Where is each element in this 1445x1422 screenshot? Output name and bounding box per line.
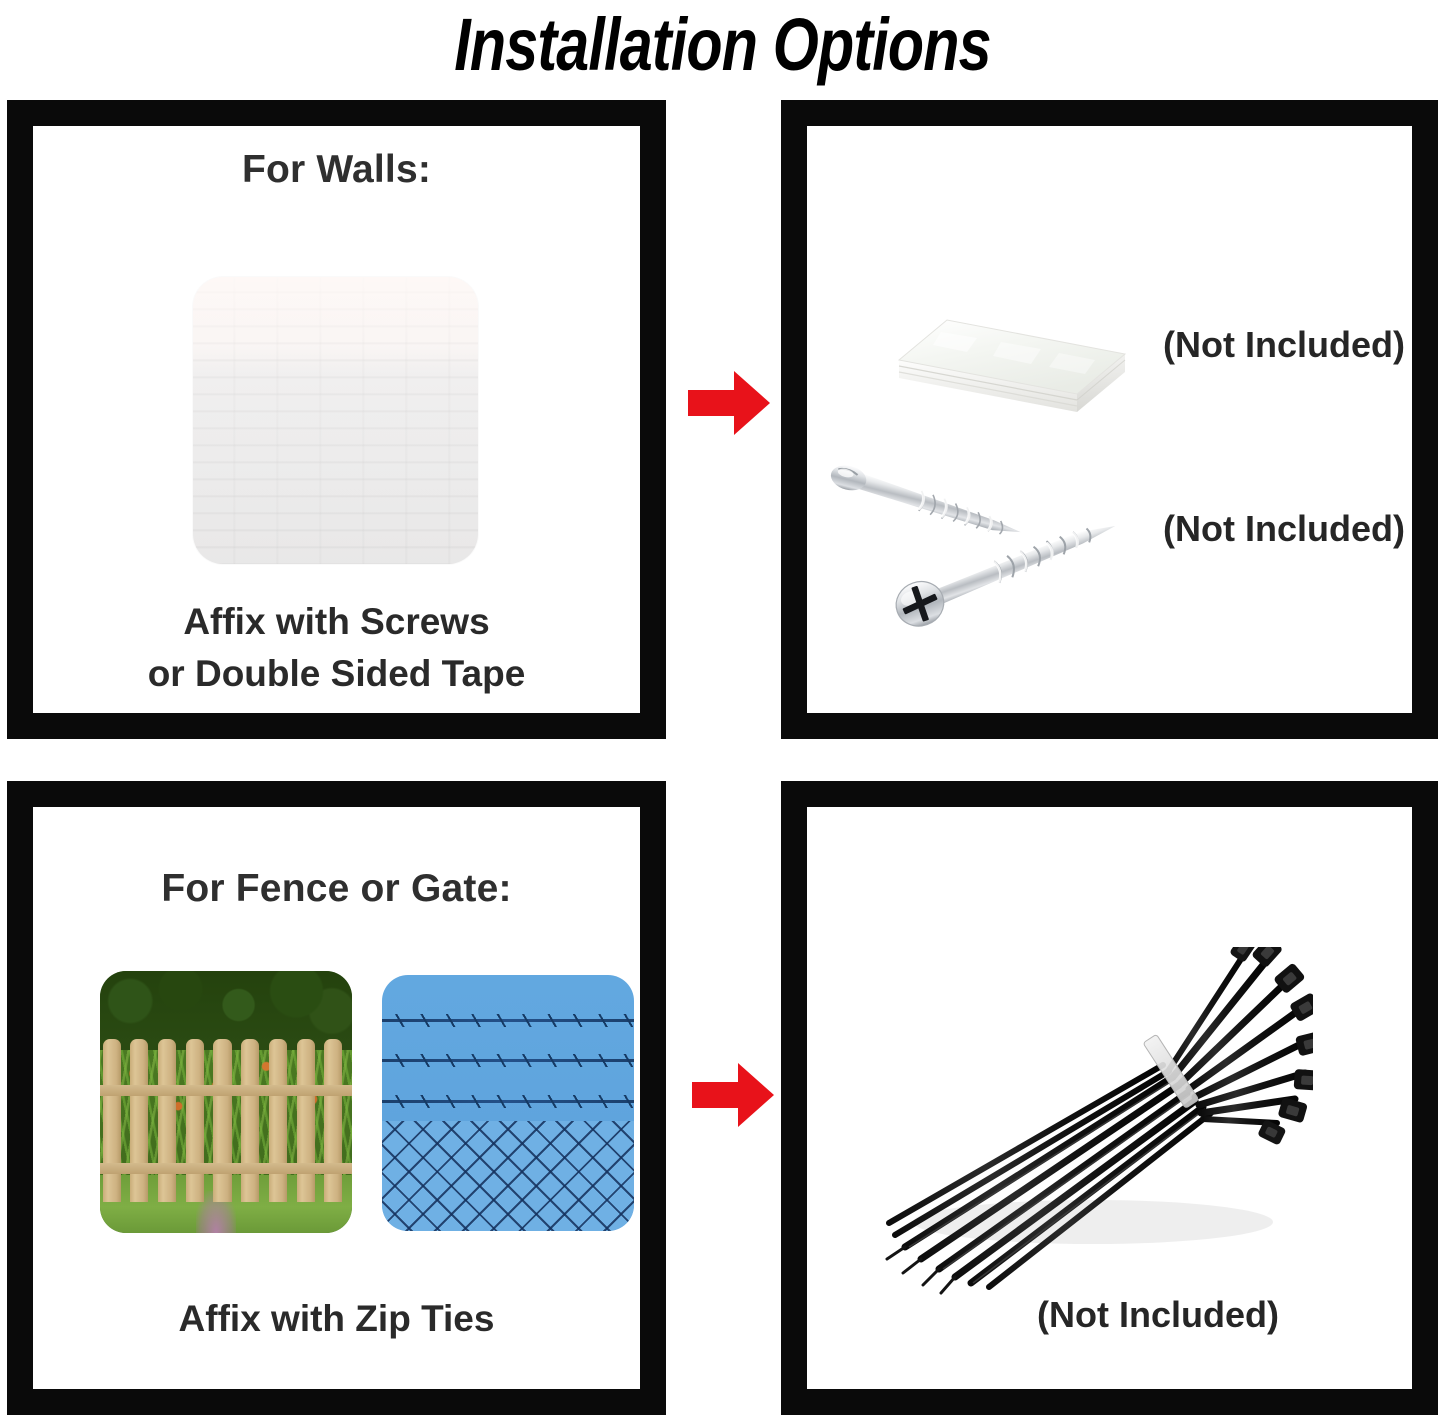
brick-wash-overlay [193, 277, 478, 564]
pickets [100, 1039, 352, 1201]
panel-wall-hardware: (Not Included) [781, 100, 1438, 739]
red-right-arrow-icon [690, 1060, 776, 1130]
chain-link-mesh [382, 1121, 634, 1231]
panel-for-walls: For Walls: Affix with Screws or Double S… [7, 100, 666, 739]
double-sided-tape-stack-image [881, 248, 1141, 428]
panel-fence-hardware: (Not Included) [781, 781, 1438, 1415]
black-zip-ties-bundle-image [843, 947, 1313, 1297]
screws-not-included-label: (Not Included) [1163, 508, 1405, 550]
page-title: Installation Options [145, 2, 1301, 87]
barbed-wire-3 [382, 1100, 634, 1103]
zipties-not-included-label: (Not Included) [1037, 1294, 1279, 1336]
red-right-arrow-icon [686, 368, 772, 438]
for-walls-caption-line1: Affix with Screws [33, 596, 640, 648]
panel-for-fence-or-gate: For Fence or Gate: [7, 781, 666, 1415]
for-walls-heading: For Walls: [33, 148, 640, 192]
for-fence-caption: Affix with Zip Ties [33, 1293, 640, 1345]
for-fence-heading: For Fence or Gate: [33, 867, 640, 911]
barbed-wire-1 [382, 1019, 634, 1022]
tape-not-included-label: (Not Included) [1163, 324, 1405, 366]
installation-options-infographic: Installation Options For Walls: Affix wi… [0, 0, 1445, 1422]
chain-link-fence-photo [382, 975, 634, 1231]
wood-screws-image [827, 446, 1207, 646]
for-walls-caption-line2: or Double Sided Tape [33, 648, 640, 700]
wooden-picket-fence-photo [100, 971, 352, 1233]
barbed-wire-2 [382, 1059, 634, 1062]
white-brick-wall-image [193, 277, 478, 564]
